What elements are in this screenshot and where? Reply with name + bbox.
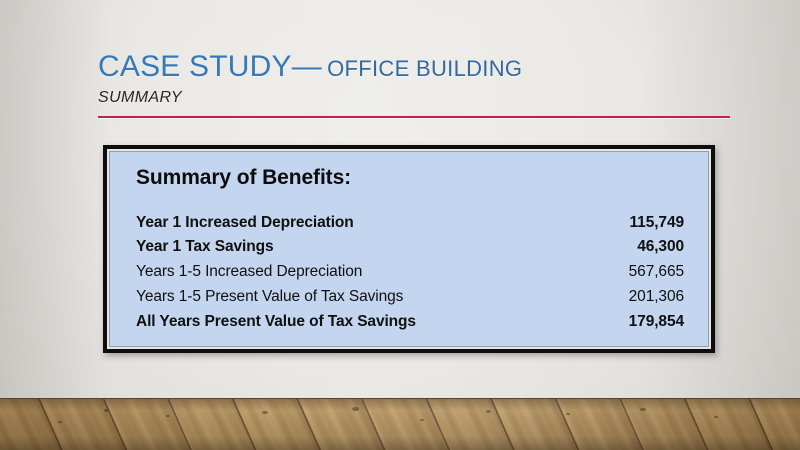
benefits-table: Year 1 Increased Depreciation 115,749 Ye… [136, 210, 684, 334]
row-label: All Years Present Value of Tax Savings [136, 309, 594, 334]
slide-canvas: CASE STUDY— OFFICE BUILDING SUMMARY Summ… [0, 0, 800, 450]
slide-title-block: CASE STUDY— OFFICE BUILDING SUMMARY [98, 52, 738, 107]
row-value: 115,749 [594, 210, 684, 235]
row-value: 46,300 [594, 235, 684, 260]
table-row: Years 1-5 Present Value of Tax Savings 2… [136, 284, 684, 309]
row-value: 567,665 [594, 260, 684, 285]
page-title-subject: OFFICE BUILDING [321, 56, 523, 81]
table-row: Years 1-5 Increased Depreciation 567,665 [136, 260, 684, 285]
summary-of-benefits-box: Summary of Benefits: Year 1 Increased De… [103, 145, 715, 353]
table-row: Year 1 Increased Depreciation 115,749 [136, 210, 684, 235]
page-title-main: CASE STUDY [98, 50, 292, 83]
row-label: Years 1-5 Present Value of Tax Savings [136, 284, 594, 309]
title-divider-rule [98, 116, 730, 118]
benefits-table-body: Year 1 Increased Depreciation 115,749 Ye… [136, 210, 684, 334]
row-label: Years 1-5 Increased Depreciation [136, 260, 594, 285]
row-label: Year 1 Increased Depreciation [136, 210, 594, 235]
box-content-area: Summary of Benefits: Year 1 Increased De… [109, 151, 709, 347]
page-subtitle: SUMMARY [98, 89, 738, 107]
wooden-floor [0, 398, 800, 450]
page-title-dash: — [292, 50, 321, 83]
row-value: 179,854 [594, 309, 684, 334]
summary-heading: Summary of Benefits: [136, 166, 684, 190]
floor-shading-overlay [0, 399, 800, 450]
page-title: CASE STUDY— OFFICE BUILDING [98, 52, 738, 82]
box-inner-rim: Summary of Benefits: Year 1 Increased De… [107, 149, 711, 349]
row-label: Year 1 Tax Savings [136, 235, 594, 260]
table-row: Year 1 Tax Savings 46,300 [136, 235, 684, 260]
table-row: All Years Present Value of Tax Savings 1… [136, 309, 684, 334]
row-value: 201,306 [594, 284, 684, 309]
